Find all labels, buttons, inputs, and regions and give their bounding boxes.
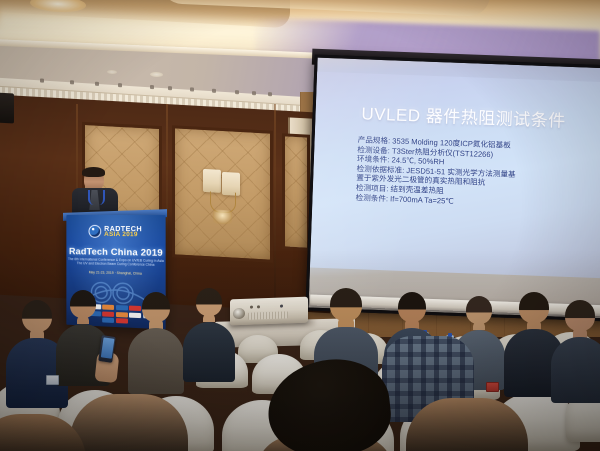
attendee-head-right	[466, 296, 492, 324]
ceiling-fixture-11	[268, 92, 272, 96]
attendee-head-center-2	[398, 292, 426, 322]
presenter-lanyard	[88, 190, 105, 205]
downlight-icon-3	[107, 70, 117, 74]
phone-screen	[100, 337, 114, 358]
neck	[203, 313, 215, 323]
attendee-badge-2	[486, 382, 499, 392]
sponsor-logo-3	[102, 305, 114, 310]
head-shape	[70, 290, 96, 318]
attendee-head-back-left-2	[70, 290, 96, 318]
attendee-badge-1	[46, 375, 59, 385]
attendee-head-right-2	[519, 292, 549, 323]
sponsor-logo-9	[102, 311, 114, 316]
projector-indicator-1	[250, 306, 253, 309]
head-shape	[196, 288, 222, 316]
slide-body-text: 产品规格: 3535 Molding 120度ICP氮化铝基板检测设备: T3S…	[355, 135, 587, 211]
ceiling-fixture-3	[95, 82, 99, 86]
attendee-head-center	[330, 288, 362, 321]
radtech-logo: RADTECH ASIA 2019	[66, 225, 165, 239]
sponsor-logo-11	[129, 312, 141, 318]
screen-surface: UVLED 器件热阻测试条件 产品规格: 3535 Molding 120度IC…	[309, 58, 600, 319]
ceiling-fixture-8	[212, 89, 216, 93]
neck	[473, 321, 485, 331]
ceiling-fixture-4	[118, 83, 122, 87]
wall-seam-2	[166, 104, 168, 304]
presenter-hair	[82, 167, 105, 177]
wall-seam-3	[274, 104, 276, 304]
attendee-head-right-3	[565, 300, 595, 331]
projector-indicator-3	[280, 305, 283, 308]
ceiling-fixture-7	[190, 87, 194, 91]
sponsor-logo-13	[102, 317, 114, 323]
wall-speaker-icon	[0, 93, 14, 124]
ceiling-fixture-5	[150, 85, 154, 89]
attendee-torso-right-3	[551, 337, 600, 403]
ceiling-fixture-2	[70, 80, 74, 84]
sponsor-logo-10	[116, 312, 128, 318]
downlight-icon-2	[150, 72, 163, 77]
sponsor-logo-5	[129, 306, 141, 312]
conference-photo-scene: UVLED 器件热阻测试条件 产品规格: 3535 Molding 120度IC…	[0, 0, 600, 451]
ceiling-fixture-10	[252, 91, 256, 95]
event-title: RadTech China 2019	[66, 245, 165, 258]
ceiling-fixture-9	[235, 90, 239, 94]
projector-vent	[248, 311, 288, 319]
ceiling-fixture-1	[40, 78, 44, 82]
sponsor-logo-4	[116, 305, 128, 310]
#1a1714	[432, 330, 502, 406]
projector-lens-icon	[233, 308, 245, 319]
neck	[77, 315, 89, 325]
lampshade-left	[203, 169, 221, 193]
slide-title: UVLED 器件热阻测试条件	[315, 98, 600, 134]
ceiling-projector	[230, 297, 308, 326]
projection-screen: UVLED 器件热阻测试条件 产品规格: 3535 Molding 120度IC…	[305, 55, 600, 322]
attendee-torso-mid-left-2	[183, 322, 235, 382]
projector-indicator-2	[257, 305, 260, 308]
sconce-base-glow	[213, 209, 232, 224]
globe-icon	[89, 225, 102, 238]
#101010	[0, 352, 60, 422]
sponsor-logo-14	[116, 318, 128, 324]
logo-line-2: ASIA 2019	[104, 232, 142, 239]
attendee-head-mid-left	[142, 292, 170, 322]
wall-sconce	[203, 169, 245, 229]
attendee-head-back-left	[22, 300, 52, 332]
head-shape	[466, 296, 492, 324]
slide-content-area: UVLED 器件热阻测试条件 产品规格: 3535 Molding 120度IC…	[310, 72, 600, 279]
ceiling-fixture-6	[168, 86, 172, 90]
attendee-head-mid-left-2	[196, 288, 222, 316]
diamond-fabric-panel-3	[282, 133, 310, 251]
